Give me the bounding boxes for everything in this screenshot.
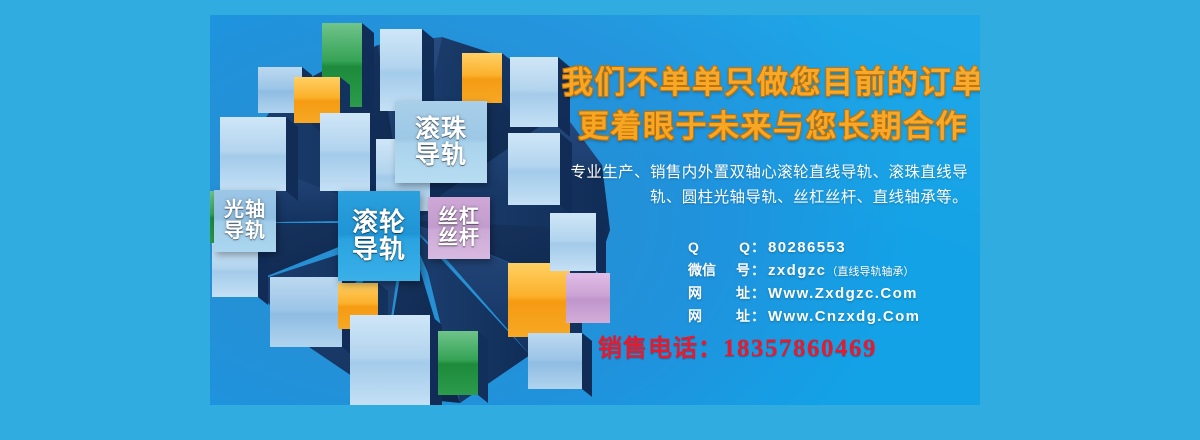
product-chip-optical-shaft-guide: 光轴 导轨 <box>214 190 276 252</box>
contact-value-website-1[interactable]: Www.Zxdgzc.Com <box>768 285 918 302</box>
product-chip-line1: 滚轮 <box>352 209 406 236</box>
contact-value-wechat: zxdgzc <box>768 262 826 279</box>
sales-phone-number[interactable]: 18357860469 <box>723 335 877 362</box>
contact-row-website-2: 网 址 ： Www.Cnzxdg.Com <box>688 306 958 326</box>
headline-line-2: 更着眼于未来与您长期合作 <box>578 101 968 146</box>
contact-label: 微信 号 <box>688 260 750 280</box>
contact-colon: ： <box>751 283 765 303</box>
company-description: 专业生产、销售内外置双轴心滚轮直线导轨、滚珠直线导轨、圆柱光轴导轨、丝杠丝杆、直… <box>568 160 968 210</box>
product-chip-lead-screw: 丝杠 丝杆 <box>428 197 490 259</box>
product-chip-line1: 光轴 <box>224 200 266 221</box>
product-chip-ball-guide: 滚珠 导轨 <box>395 101 487 183</box>
promo-banner: 滚珠 导轨 光轴 导轨 滚轮 导轨 丝杠 丝杆 我们不单单只做您目前的订单 更着… <box>210 15 980 405</box>
contact-row-wechat: 微信 号 ： zxdgzc （直线导轨轴承） <box>688 260 958 280</box>
product-chip-line2: 丝杆 <box>438 228 480 249</box>
product-chip-line1: 丝杠 <box>438 207 480 228</box>
product-chip-line1: 滚珠 <box>415 116 467 142</box>
sales-phone-label: 销售电话： <box>598 335 723 362</box>
contact-note-wechat: （直线导轨轴承） <box>826 263 914 279</box>
contact-info-list: Q Q ： 80286553 微信 号 ： zxdgzc （直线导轨轴承） <box>688 237 958 329</box>
headline-line-1: 我们不单单只做您目前的订单 <box>562 57 980 102</box>
contact-value-website-2[interactable]: Www.Cnzxdg.Com <box>768 308 920 325</box>
product-chip-line2: 导轨 <box>415 142 467 168</box>
contact-row-website-1: 网 址 ： Www.Zxdgzc.Com <box>688 283 958 303</box>
contact-row-qq: Q Q ： 80286553 <box>688 237 958 257</box>
contact-colon: ： <box>751 260 765 280</box>
contact-label: 网 址 <box>688 283 750 303</box>
sales-phone-block: 销售电话：18357860469 <box>598 328 877 363</box>
product-chip-roller-guide: 滚轮 导轨 <box>338 191 420 281</box>
banner-text-column: 我们不单单只做您目前的订单 更着眼于未来与您长期合作 专业生产、销售内外置双轴心… <box>550 15 980 405</box>
contact-label: Q Q <box>688 239 750 255</box>
product-chip-line2: 导轨 <box>352 236 406 263</box>
contact-colon: ： <box>751 306 765 326</box>
contact-colon: ： <box>751 237 765 257</box>
banner-page: 滚珠 导轨 光轴 导轨 滚轮 导轨 丝杠 丝杆 我们不单单只做您目前的订单 更着… <box>0 0 1200 440</box>
contact-value-qq: 80286553 <box>768 239 846 256</box>
contact-label: 网 址 <box>688 306 750 326</box>
product-chip-line2: 导轨 <box>224 221 266 242</box>
